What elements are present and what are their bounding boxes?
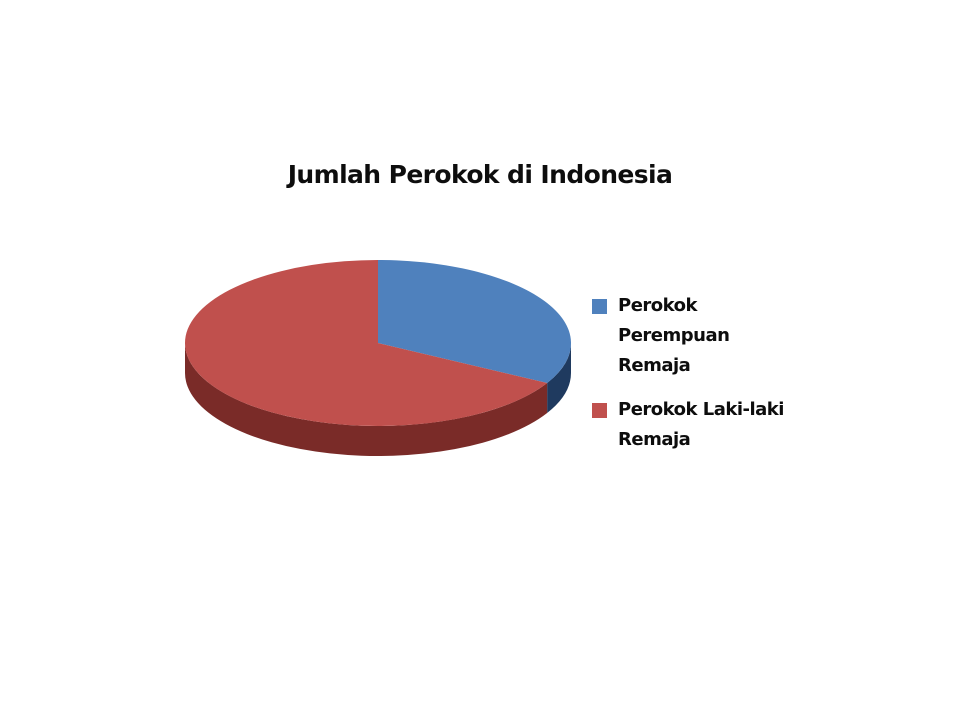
legend-swatch-red-icon bbox=[592, 403, 607, 418]
chart-title: Jumlah Perokok di Indonesia bbox=[0, 160, 960, 189]
legend-label-line-2: Remaja bbox=[618, 425, 820, 455]
chart-legend: Perokok Perempuan Remaja Perokok Laki-la… bbox=[590, 291, 820, 469]
legend-item-laki-laki[interactable]: Perokok Laki-laki Remaja bbox=[590, 395, 820, 455]
pie-chart-3d[interactable] bbox=[170, 245, 590, 515]
legend-label-line-3: Remaja bbox=[618, 351, 820, 381]
legend-label-line-1: Perokok bbox=[618, 291, 820, 321]
chart-canvas: Jumlah Perokok di Indonesia Perokok Pere… bbox=[0, 0, 960, 720]
pie-svg bbox=[170, 245, 590, 515]
legend-item-perempuan[interactable]: Perokok Perempuan Remaja bbox=[590, 291, 820, 381]
legend-swatch-blue-icon bbox=[592, 299, 607, 314]
legend-label-line-1: Perokok Laki-laki bbox=[618, 395, 820, 425]
legend-label-line-2: Perempuan bbox=[618, 321, 820, 351]
